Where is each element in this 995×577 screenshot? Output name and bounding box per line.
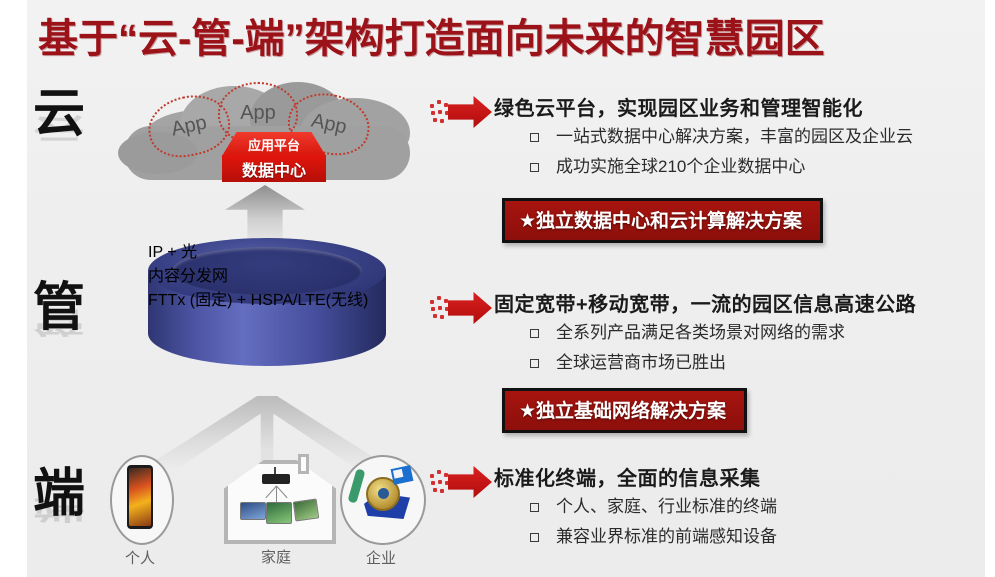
badge-cloud: ★独立数据中心和云计算解决方案 bbox=[502, 198, 823, 243]
bullet-item: 个人、家庭、行业标准的终端 bbox=[526, 492, 995, 522]
app-bubble-label: App bbox=[169, 111, 209, 141]
bullet-item: 全系列产品满足各类场景对网络的需求 bbox=[526, 318, 995, 348]
laptop-icon bbox=[240, 502, 266, 520]
platform-label: 应用平台 bbox=[222, 132, 326, 156]
section-bullets-terminal: 个人、家庭、行业标准的终端 兼容业界标准的前端感知设备 bbox=[526, 492, 995, 552]
page-title: 基于“云-管-端”架构打造面向未来的智慧园区 bbox=[38, 10, 958, 68]
axis-label-pipe-reflection: 管 bbox=[33, 307, 85, 336]
arrow-trail-dots-icon bbox=[430, 100, 450, 124]
red-arrow-icon bbox=[430, 92, 492, 132]
house-network-icon bbox=[218, 450, 334, 536]
bullet-item: 兼容业界标准的前端感知设备 bbox=[526, 522, 995, 552]
section-heading-pipe: 固定宽带+移动宽带，一流的园区信息高速公路 bbox=[494, 288, 916, 317]
red-arrow-icon bbox=[430, 462, 492, 502]
bullet-item: 一站式数据中心解决方案，丰富的园区及企业云 bbox=[526, 122, 995, 152]
bullet-item: 全球运营商市场已胜出 bbox=[526, 348, 995, 378]
slide-root: 基于“云-管-端”架构打造面向未来的智慧园区 云 云 管 管 端 端 App A… bbox=[0, 0, 995, 577]
app-bubble-label: App bbox=[240, 102, 276, 125]
datacenter-label: 数据中心 bbox=[222, 155, 326, 182]
tv-icon bbox=[266, 502, 292, 524]
enterprise-devices-icon bbox=[348, 465, 414, 527]
axis-label-cloud: 云 云 bbox=[33, 88, 85, 140]
section-heading-cloud: 绿色云平台，实现园区业务和管理智能化 bbox=[494, 92, 863, 121]
arrow-trail-dots-icon bbox=[430, 296, 450, 320]
terminal-label-enterprise: 企业 bbox=[340, 547, 422, 568]
axis-label-pipe: 管 管 bbox=[33, 282, 85, 334]
section-bullets-cloud: 一站式数据中心解决方案，丰富的园区及企业云 成功实施全球210个企业数据中心 bbox=[526, 122, 995, 182]
section-heading-terminal: 标准化终端，全面的信息采集 bbox=[494, 462, 761, 491]
axis-label-terminal: 端 端 bbox=[33, 468, 85, 520]
section-bullets-pipe: 全系列产品满足各类场景对网络的需求 全球运营商市场已胜出 bbox=[526, 318, 995, 378]
smartphone-icon bbox=[127, 465, 153, 529]
arrow-trail-dots-icon bbox=[430, 470, 450, 494]
terminal-label-person: 个人 bbox=[110, 547, 170, 568]
network-cylinder-icon bbox=[148, 238, 386, 398]
access-point-icon bbox=[262, 474, 290, 484]
badge-pipe: ★独立基础网络解决方案 bbox=[502, 388, 747, 433]
axis-label-cloud-reflection: 云 bbox=[33, 113, 85, 142]
bullet-item: 成功实施全球210个企业数据中心 bbox=[526, 152, 995, 182]
datacenter-block: 应用平台 数据中心 bbox=[222, 132, 326, 182]
red-arrow-icon bbox=[430, 288, 492, 328]
axis-label-terminal-reflection: 端 bbox=[33, 493, 85, 522]
tablet-icon bbox=[293, 498, 320, 521]
terminal-label-home: 家庭 bbox=[218, 546, 334, 567]
